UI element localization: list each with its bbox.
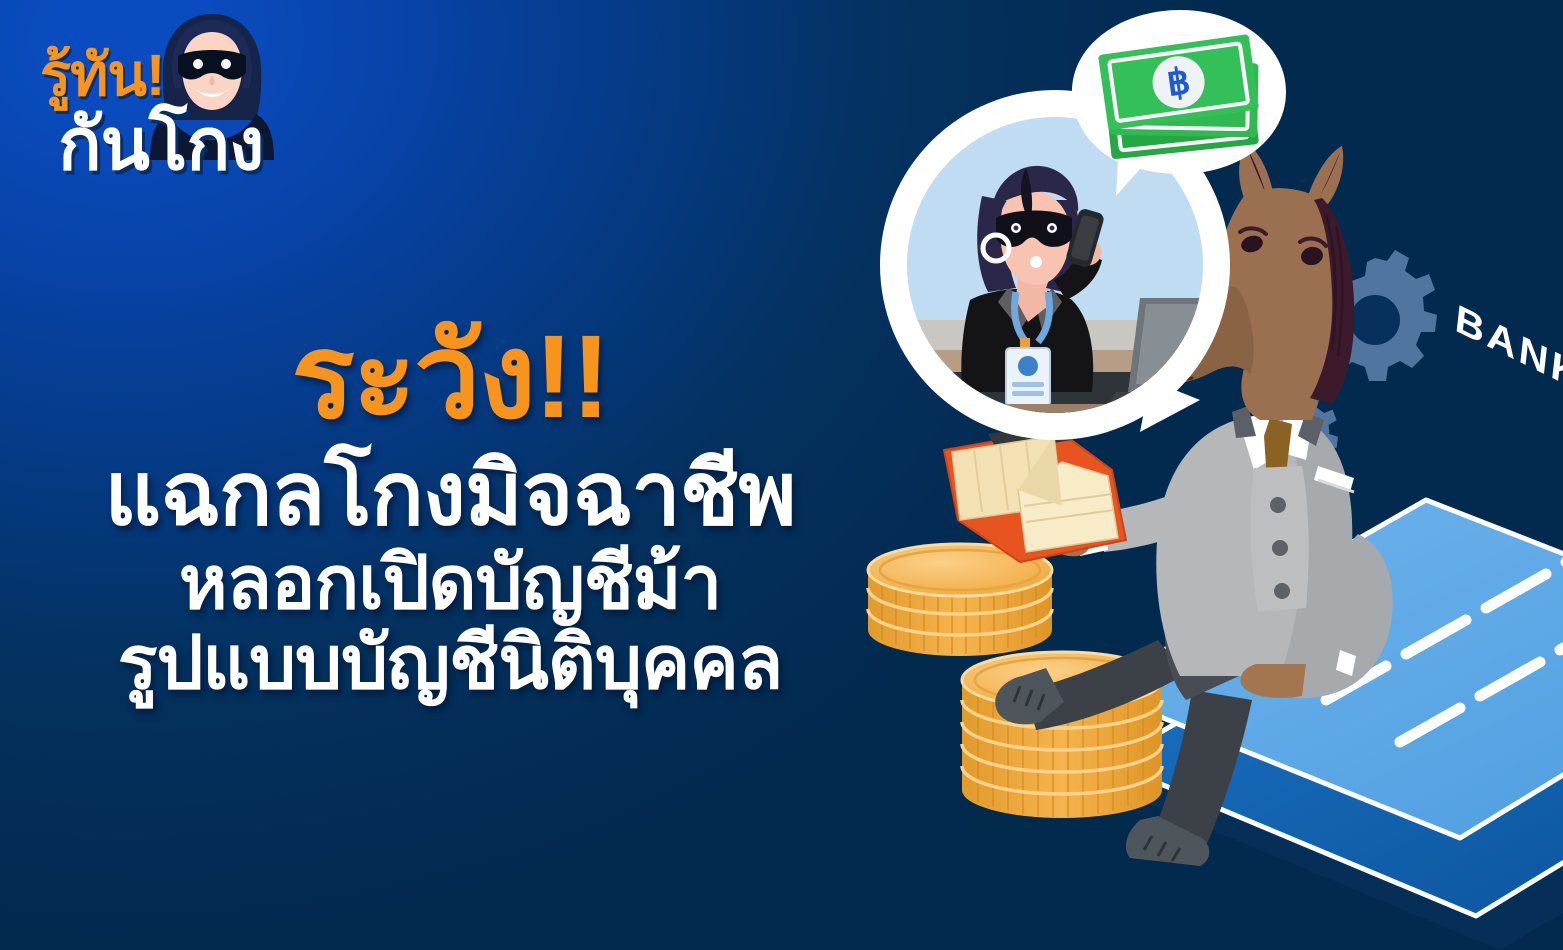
campaign-banner: รู้ทัน! กันโกง ระวัง!! แฉกลโกงมิจฉาชีพ ห…	[0, 0, 1563, 950]
banknotes-icon: ฿	[1098, 34, 1259, 159]
headline-warning: ระวัง!!	[0, 318, 900, 436]
scammer-scene-bubble: ฿	[880, 10, 1286, 462]
open-bankbook-icon	[944, 424, 1126, 562]
logo-line-2: กันโกง	[58, 86, 263, 201]
headline-line-4: รูปแบบบัญชีนิติบุคคล	[0, 626, 900, 700]
headline-line-2: แฉกลโกงมิจฉาชีพ	[0, 450, 900, 538]
headline-line-3: หลอกเปิดบัญชีม้า	[0, 546, 900, 620]
scam-illustration: BANK	[840, 0, 1563, 950]
bank-card-label: BANK	[1453, 295, 1563, 400]
headline-block: ระวัง!! แฉกลโกงมิจฉาชีพ หลอกเปิดบัญชีม้า…	[0, 318, 900, 700]
brand-logo: รู้ทัน! กันโกง	[22, 8, 312, 178]
